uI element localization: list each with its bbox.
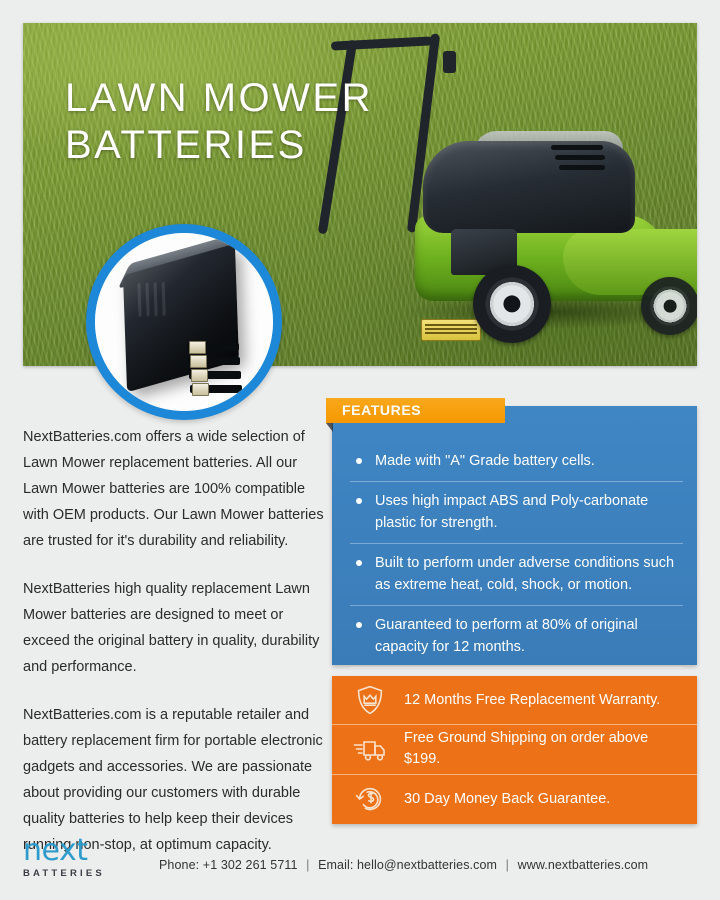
- battery-contact-2: [190, 355, 207, 368]
- bullet-icon: [356, 622, 362, 628]
- feature-text: Uses high impact ABS and Poly-carbonate …: [375, 490, 683, 534]
- battery-contact-1: [189, 341, 206, 354]
- contact-website[interactable]: www.nextbatteries.com: [518, 858, 649, 872]
- company-logo: next BATTERIES: [23, 836, 127, 879]
- mower-vent-2: [555, 155, 605, 160]
- footer: next BATTERIES Phone: +1 302 261 5711 | …: [23, 836, 697, 884]
- feature-text: Guaranteed to perform at 80% of original…: [375, 614, 683, 658]
- mower-vent-1: [551, 145, 603, 150]
- flyer-page: LAWN MOWER BATTERIES NextBatteries.com o…: [0, 0, 720, 900]
- contact-line: Phone: +1 302 261 5711 | Email: hello@ne…: [159, 858, 648, 872]
- contact-phone: Phone: +1 302 261 5711: [159, 858, 298, 872]
- mower-wheel-front: [473, 265, 551, 343]
- feature-item: Guaranteed to perform at 80% of original…: [350, 606, 683, 668]
- lawn-mower-image: [323, 33, 697, 366]
- description-paragraph-1: NextBatteries.com offers a wide selectio…: [23, 424, 325, 554]
- feature-item: Built to perform under adverse condition…: [350, 544, 683, 606]
- hero-title: LAWN MOWER BATTERIES: [65, 75, 373, 169]
- bullet-icon: [356, 498, 362, 504]
- feature-text: Made with "A" Grade battery cells.: [375, 450, 595, 472]
- mower-vent-3: [559, 165, 605, 170]
- feature-item: Uses high impact ABS and Poly-carbonate …: [350, 482, 683, 544]
- benefit-item: Free Ground Shipping on order above $199…: [332, 725, 697, 774]
- mower-warning-label: [421, 319, 481, 341]
- description-text: NextBatteries.com offers a wide selectio…: [23, 424, 325, 880]
- ribbon-fold-shadow: [326, 423, 333, 432]
- features-ribbon-label: FEATURES: [326, 398, 505, 423]
- logo-primary-text: next: [23, 836, 127, 866]
- contact-separator: |: [501, 858, 514, 872]
- mower-handle-clamp: [443, 51, 456, 73]
- benefits-panel: 12 Months Free Replacement Warranty. Fre…: [332, 676, 697, 824]
- battery-inset-circle: [86, 224, 282, 420]
- contact-separator: |: [301, 858, 314, 872]
- features-panel: Made with "A" Grade battery cells. Uses …: [332, 406, 697, 665]
- benefit-item: 30 Day Money Back Guarantee.: [332, 775, 697, 824]
- mower-handle-bar: [331, 36, 433, 50]
- logo-secondary-text: BATTERIES: [23, 868, 127, 879]
- benefit-item: 12 Months Free Replacement Warranty.: [332, 676, 697, 725]
- money-back-icon: [350, 782, 390, 816]
- shield-crown-icon: [350, 683, 390, 717]
- mower-wheel-rear: [641, 277, 697, 335]
- contact-email[interactable]: Email: hello@nextbatteries.com: [318, 858, 497, 872]
- battery-inset-background: [95, 233, 273, 411]
- benefit-text: 12 Months Free Replacement Warranty.: [404, 690, 660, 711]
- feature-item: Made with "A" Grade battery cells.: [350, 442, 683, 482]
- battery-contact-3: [191, 369, 208, 382]
- feature-text: Built to perform under adverse condition…: [375, 552, 683, 596]
- benefit-text: Free Ground Shipping on order above $199…: [404, 728, 683, 770]
- description-paragraph-2: NextBatteries high quality replacement L…: [23, 576, 325, 680]
- benefit-text: 30 Day Money Back Guarantee.: [404, 789, 610, 810]
- bullet-icon: [356, 560, 362, 566]
- battery-contact-4: [192, 383, 209, 396]
- delivery-truck-icon: [350, 732, 390, 766]
- bullet-icon: [356, 458, 362, 464]
